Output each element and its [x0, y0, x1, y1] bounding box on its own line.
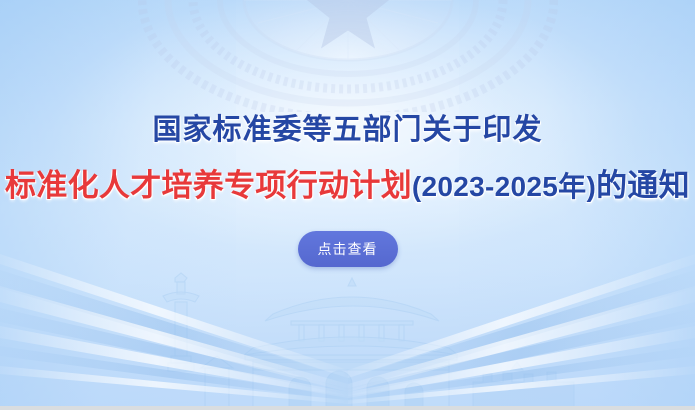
banner-content: 国家标准委等五部门关于印发 标准化人才培养专项行动计划(2023-2025年)的… — [0, 0, 695, 410]
banner-title-period: (2023-2025年) — [412, 171, 596, 202]
policy-announcement-banner: 国家标准委等五部门关于印发 标准化人才培养专项行动计划(2023-2025年)的… — [0, 0, 695, 410]
banner-title-line-1: 国家标准委等五部门关于印发 — [152, 116, 542, 145]
banner-title-line-2: 标准化人才培养专项行动计划(2023-2025年)的通知 — [5, 170, 690, 201]
bottom-divider — [0, 406, 695, 410]
banner-title-plan-name: 标准化人才培养专项行动计划 — [5, 168, 412, 203]
view-details-button[interactable]: 点击查看 — [298, 231, 398, 267]
banner-title-suffix: 的通知 — [596, 168, 690, 203]
